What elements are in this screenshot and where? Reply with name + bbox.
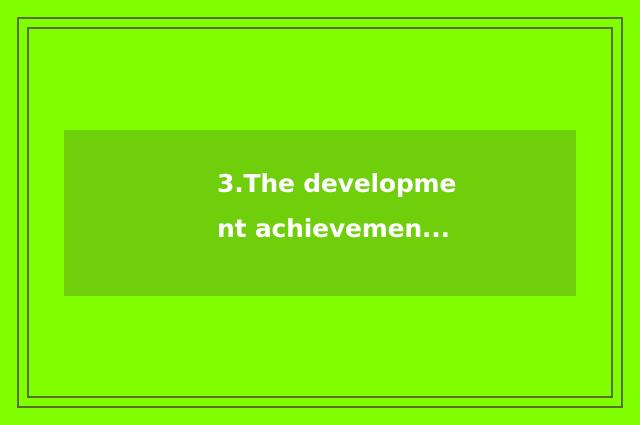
title-line-1: 3.The developme (217, 161, 456, 206)
content-placeholder-box[interactable]: 3.The developme nt achievemen... (64, 130, 576, 296)
slide-canvas: 3.The developme nt achievemen... (0, 0, 640, 425)
title-line-2: nt achievemen... (217, 206, 450, 251)
